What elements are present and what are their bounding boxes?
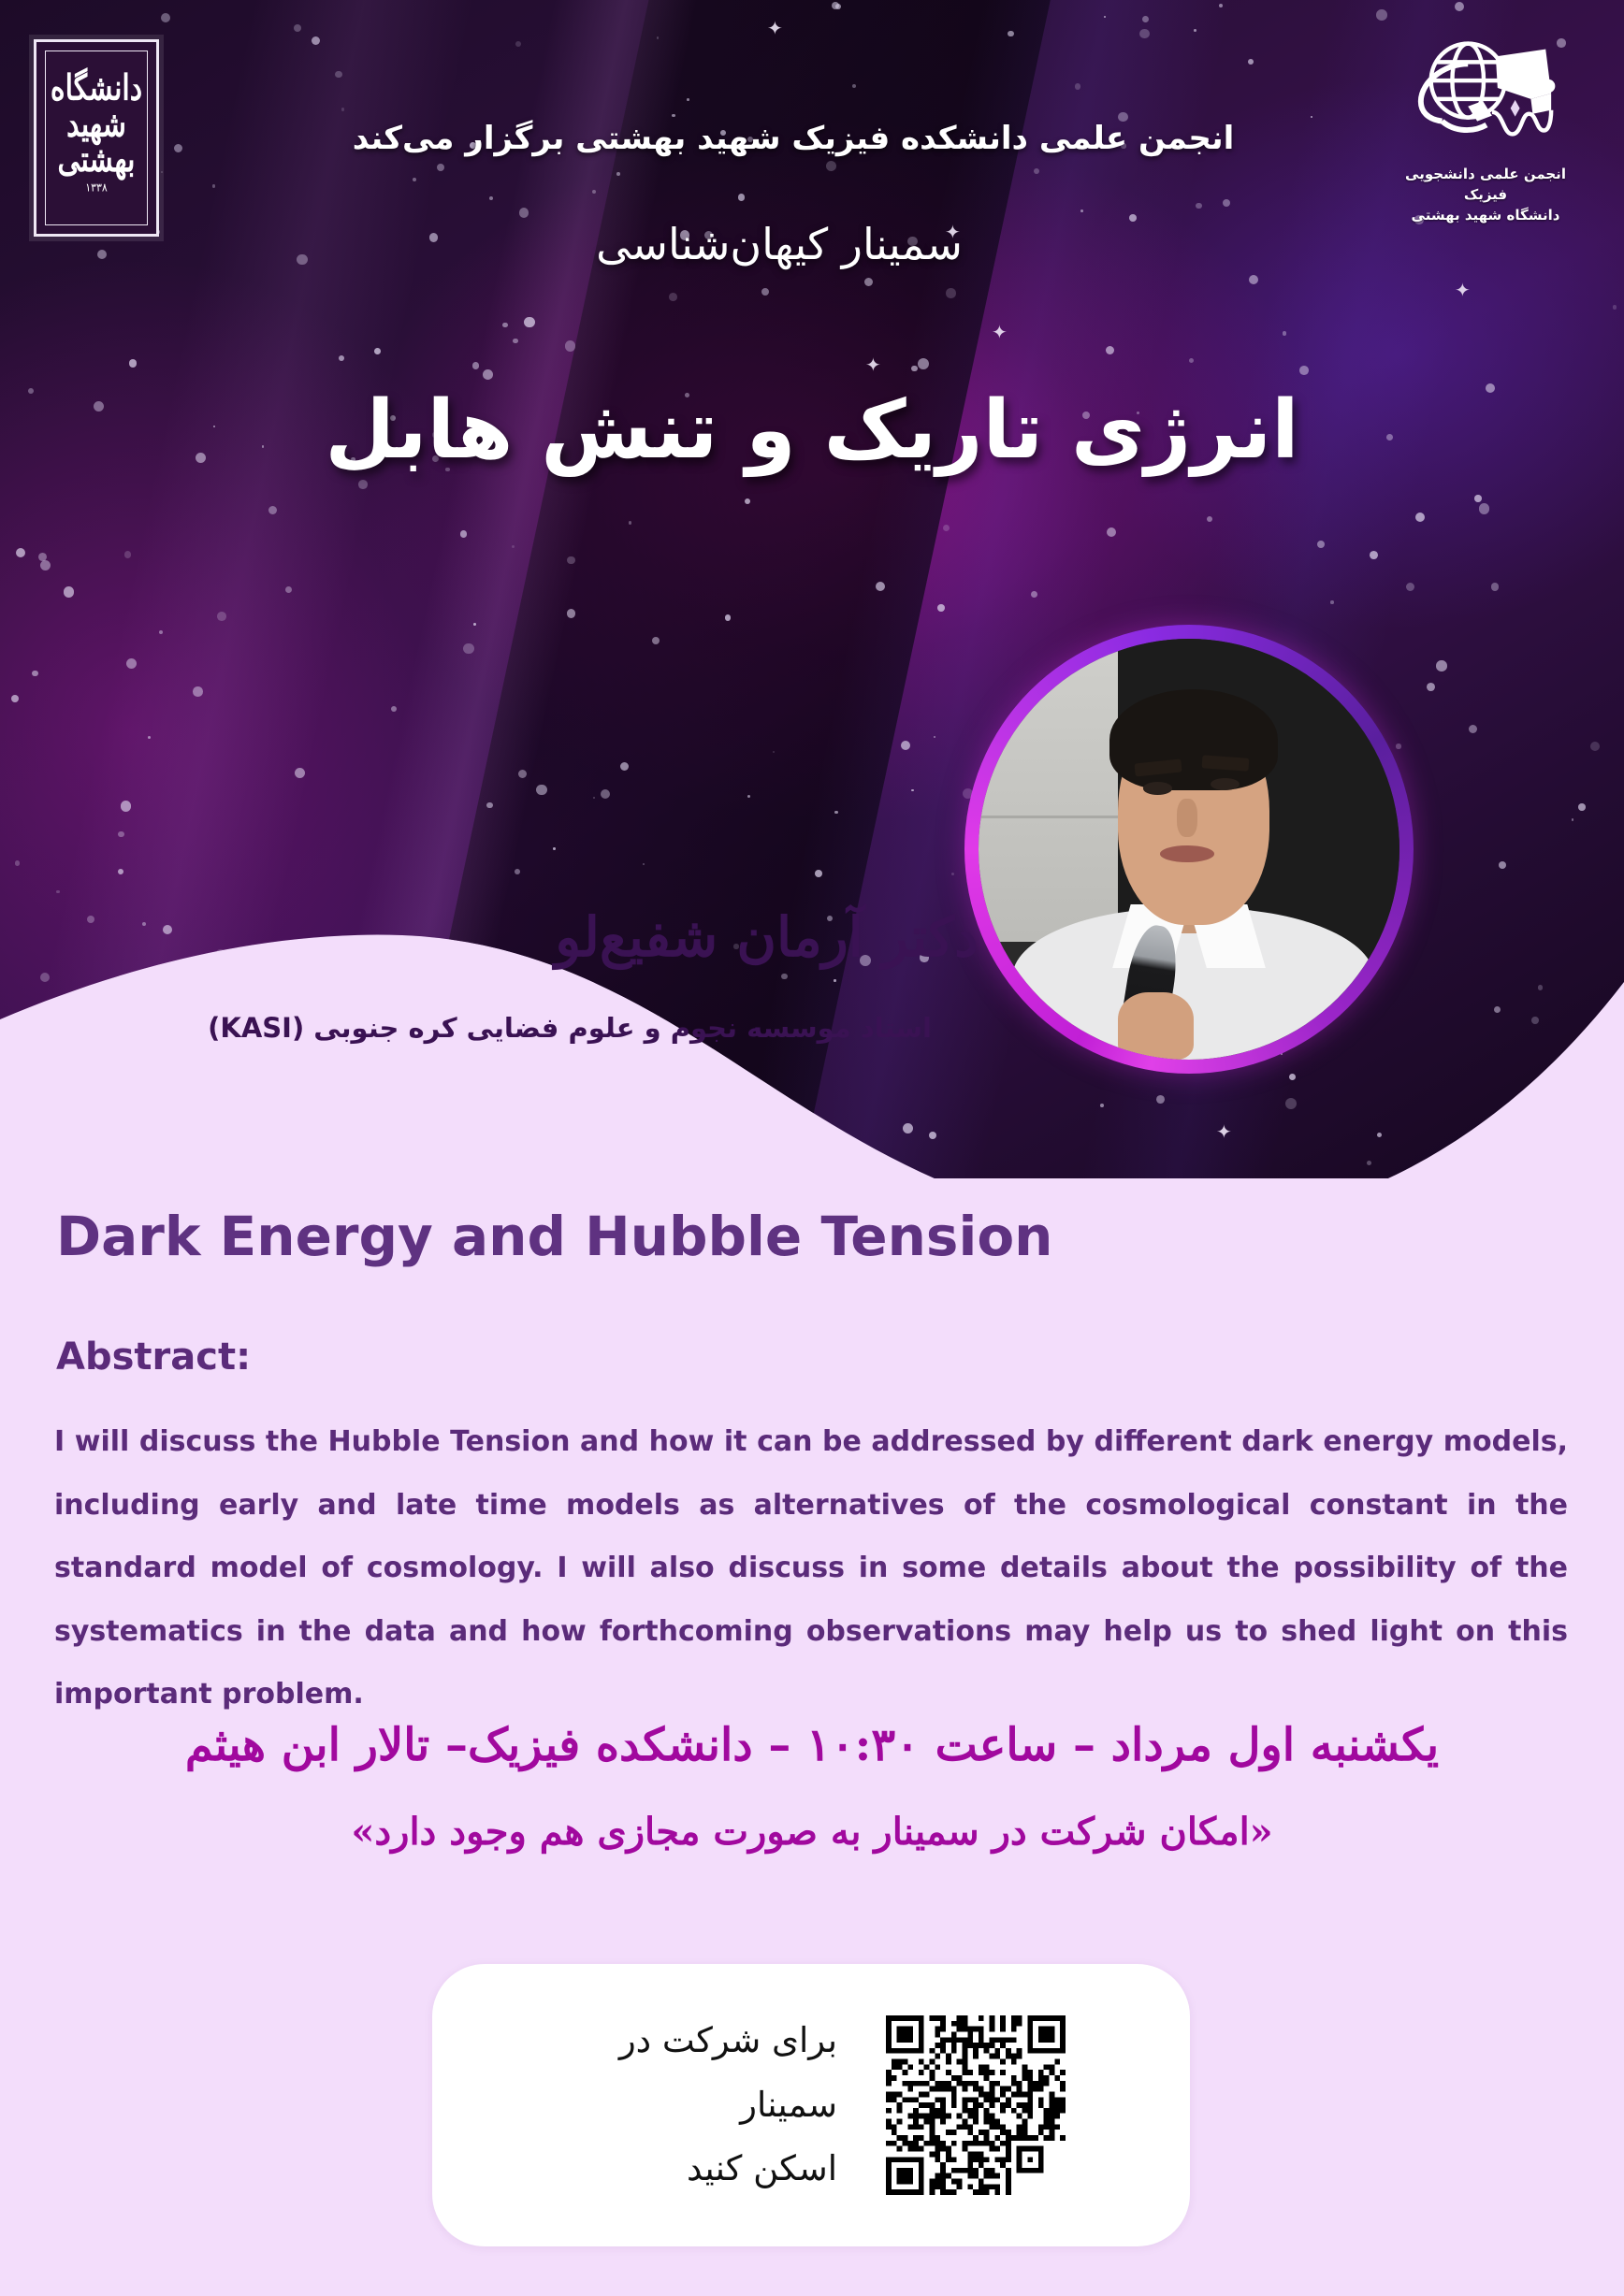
portrait-wall-seam — [979, 816, 1118, 818]
abstract-label: Abstract: — [56, 1336, 251, 1379]
portrait-eye-right — [1211, 778, 1240, 791]
portrait-hair — [1109, 689, 1278, 790]
talk-english-title: Dark Energy and Hubble Tension — [56, 1205, 1052, 1268]
portrait-hand — [1118, 992, 1194, 1060]
association-caption-line1: انجمن علمی دانشجویی فیزیک — [1392, 165, 1579, 206]
portrait-wall — [979, 639, 1118, 942]
abstract-text: I will discuss the Hubble Tension and ho… — [54, 1410, 1568, 1726]
speaker-portrait-ring — [964, 625, 1414, 1074]
university-logo-year: ۱۳۳۸ — [85, 181, 108, 194]
virtual-attendance-note: «امکان شرکت در سمینار به صورت مجازی هم و… — [0, 1810, 1624, 1854]
qr-card[interactable]: برای شرکت در سمینار اسکن کنید — [432, 1964, 1190, 2246]
portrait-mouth — [1160, 845, 1215, 862]
qr-caption-line1: برای شرکت در سمینار — [557, 2009, 837, 2137]
speaker-affiliation: استاد موسسه نجوم و علوم فضایی کره جنوبی … — [208, 1012, 932, 1044]
qr-caption: برای شرکت در سمینار اسکن کنید — [557, 2009, 837, 2201]
speaker-portrait — [979, 639, 1399, 1060]
association-logo-caption: انجمن علمی دانشجویی فیزیک دانشگاه شهید ب… — [1392, 165, 1579, 225]
host-line: انجمن علمی دانشکده فیزیک شهید بهشتی برگز… — [0, 120, 1624, 157]
event-details-line: یکشنبه اول مرداد – ساعت ۱۰:۳۰ – دانشکده … — [0, 1719, 1624, 1771]
seminar-series-title: سمینار کیهان‌شناسی — [0, 219, 1624, 269]
qr-caption-line2: اسکن کنید — [557, 2137, 837, 2201]
portrait-eye-left — [1143, 782, 1173, 795]
qr-code[interactable] — [886, 2005, 1066, 2205]
poster-main-title: انرژی تاریک و تنش هابل — [0, 383, 1624, 477]
portrait-nose — [1177, 799, 1198, 837]
speaker-name: دکتر آرمان شفیع‌لو — [555, 905, 979, 969]
seminar-poster: ✦✦✦✦✦✦ دانشگاه شهید بهشتی ۱۳۳۸ — [0, 0, 1624, 2296]
